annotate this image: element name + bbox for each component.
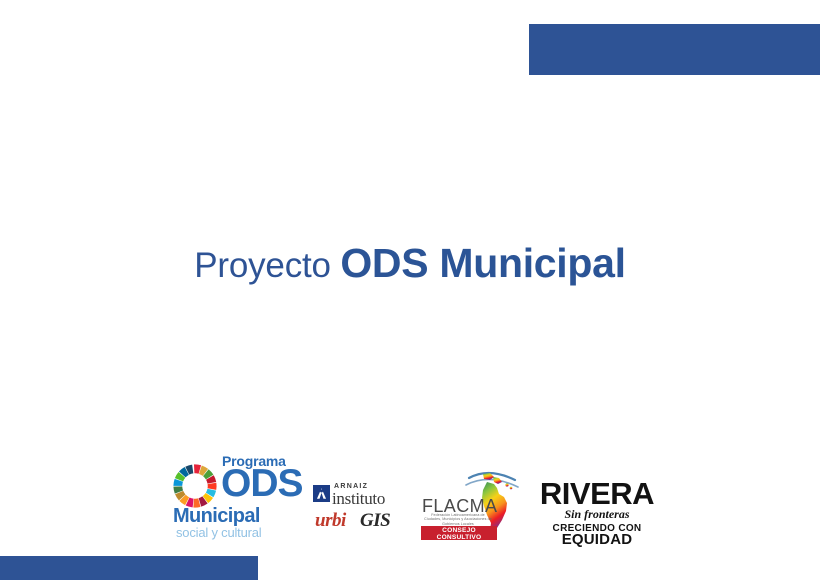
rivera-wordmark: RIVERA — [539, 478, 655, 509]
arnaiz-instituto-label: instituto — [332, 489, 385, 509]
logo-arnaiz-instituto: ARNAIZ instituto urbi GIS — [311, 482, 403, 540]
logo-strip: Programa ODS Municipal social y cultural… — [0, 432, 820, 540]
logo-ods-municipal: Programa ODS Municipal social y cultural — [165, 440, 293, 540]
rivera-sin-fronteras-label: Sin fronteras — [539, 507, 655, 522]
flacma-band-line1: CONSEJO CONSULTIVO — [421, 527, 497, 541]
ods-letters-label: ODS — [221, 464, 303, 503]
rivera-equidad-label: EQUIDAD — [539, 531, 655, 548]
title-light-part: Proyecto — [194, 246, 340, 285]
arnaiz-mark-icon — [313, 485, 330, 502]
urbi-label: urbi — [315, 510, 346, 532]
flacma-subtitle: Federación Latinoamericana de Ciudades, … — [423, 513, 493, 526]
page-title: Proyecto ODS Municipal — [0, 240, 820, 287]
decorative-bar-top-right — [529, 24, 820, 75]
flacma-band-line2: y de FOMENTO — [421, 541, 497, 548]
logo-rivera: RIVERA Sin fronteras CRECIENDO CON EQUID… — [539, 478, 655, 540]
gis-label: GIS — [360, 510, 390, 532]
logo-flacma: FLACMA Federación Latinoamericana de Ciu… — [421, 468, 521, 540]
decorative-bar-bottom-left — [0, 556, 258, 580]
ods-tagline-label: social y cultural — [176, 525, 261, 540]
title-bold-part: ODS Municipal — [340, 240, 625, 286]
flacma-council-band: CONSEJO CONSULTIVO y de FOMENTO — [421, 526, 497, 540]
